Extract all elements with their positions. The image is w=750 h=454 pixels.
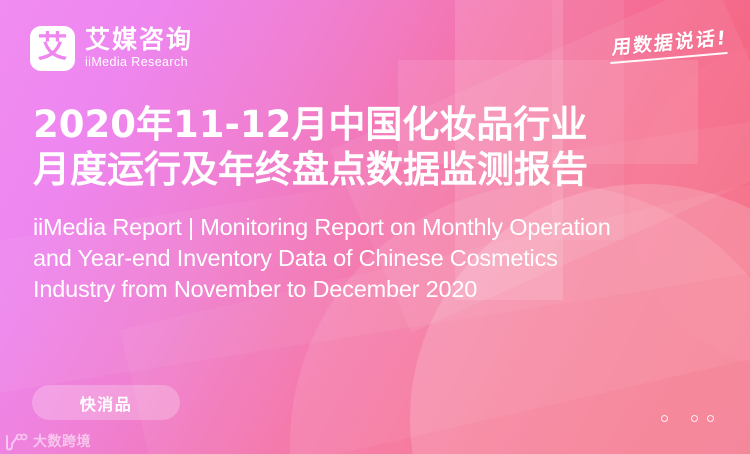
brand-name-cn: 艾媒咨询 (85, 27, 193, 54)
watermark-text: 大数跨境 (33, 435, 91, 449)
logo-glyph: 艾 (38, 33, 68, 63)
brand-name-en: iiMedia Research (85, 55, 193, 70)
decor-sheen-lower (120, 159, 750, 454)
decor-dot-1 (661, 415, 668, 422)
page-title: 2020年11-12月中国化妆品行业 月度运行及年终盘点数据监测报告 (33, 102, 733, 192)
iimedia-logo-icon: 艾 (30, 26, 75, 71)
decor-dot-3 (707, 415, 714, 422)
subtitle-line-3: Industry from November to December 2020 (33, 274, 739, 305)
page-subtitle: iiMedia Report | Monitoring Report on Mo… (33, 212, 739, 304)
brand-logo: 艾 艾媒咨询 iiMedia Research (30, 26, 193, 71)
category-badge-label: 快消品 (80, 391, 133, 415)
subtitle-line-1: iiMedia Report | Monitoring Report on Mo… (33, 212, 739, 243)
watermark-logo-icon (4, 433, 28, 451)
title-line-2: 月度运行及年终盘点数据监测报告 (33, 147, 733, 192)
title-line-1: 2020年11-12月中国化妆品行业 (33, 102, 733, 147)
category-badge[interactable]: 快消品 (32, 385, 180, 420)
decor-dots (661, 415, 714, 422)
subtitle-line-2: and Year-end Inventory Data of Chinese C… (33, 243, 739, 274)
watermark: 大数跨境 (4, 433, 91, 451)
slogan: 用数据说话! (610, 28, 728, 59)
decor-dot-2 (691, 415, 698, 422)
decor-circle-top-right (630, 40, 750, 370)
report-cover: 艾 艾媒咨询 iiMedia Research 用数据说话! 2020年11-1… (0, 0, 750, 454)
brand-name-group: 艾媒咨询 iiMedia Research (85, 27, 193, 70)
